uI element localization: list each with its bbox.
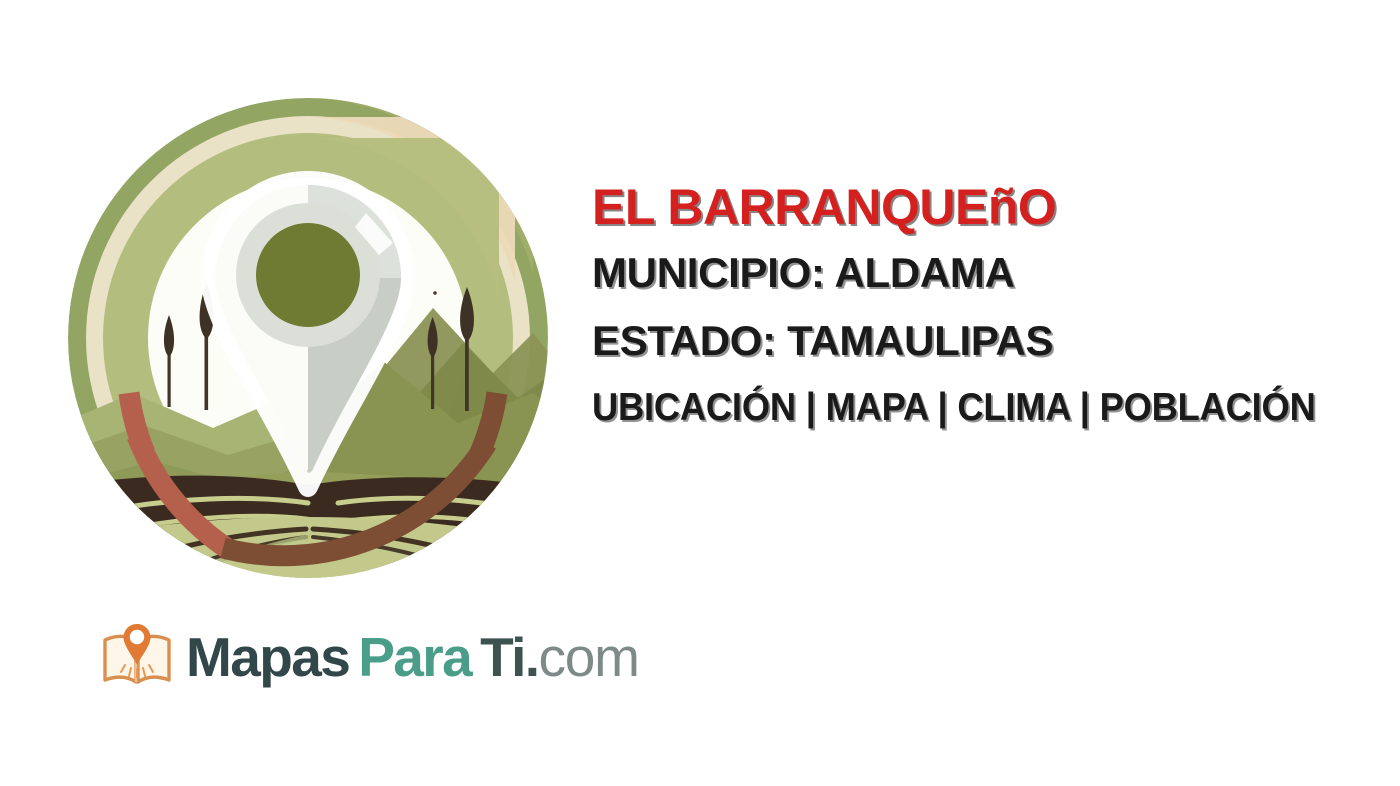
page-title: EL BARRANQUEñO xyxy=(592,175,1392,239)
logo-com: com xyxy=(538,629,638,685)
logo-wordmark: Mapas Para Ti . com xyxy=(186,629,639,685)
logo-para: Para xyxy=(358,629,471,685)
section-nav[interactable]: UBICACIÓN | MAPA | CLIMA | POBLACIÓN xyxy=(592,375,1336,441)
landscape-location-badge xyxy=(63,93,553,583)
logo-ti: Ti xyxy=(480,629,525,685)
logo-mapas: Mapas xyxy=(186,629,349,685)
municipio-line: MUNICIPIO: ALDAMA xyxy=(592,239,1392,307)
page-canvas: EL BARRANQUEñO MUNICIPIO: ALDAMA ESTADO:… xyxy=(0,0,1400,786)
estado-line: ESTADO: TAMAULIPAS xyxy=(592,307,1392,375)
site-logo[interactable]: Mapas Para Ti . com xyxy=(100,618,639,696)
info-text-block: EL BARRANQUEñO MUNICIPIO: ALDAMA ESTADO:… xyxy=(592,175,1392,441)
open-book-pin-icon xyxy=(100,620,174,694)
logo-dot: . xyxy=(525,629,539,685)
badge-illustration xyxy=(63,93,553,583)
